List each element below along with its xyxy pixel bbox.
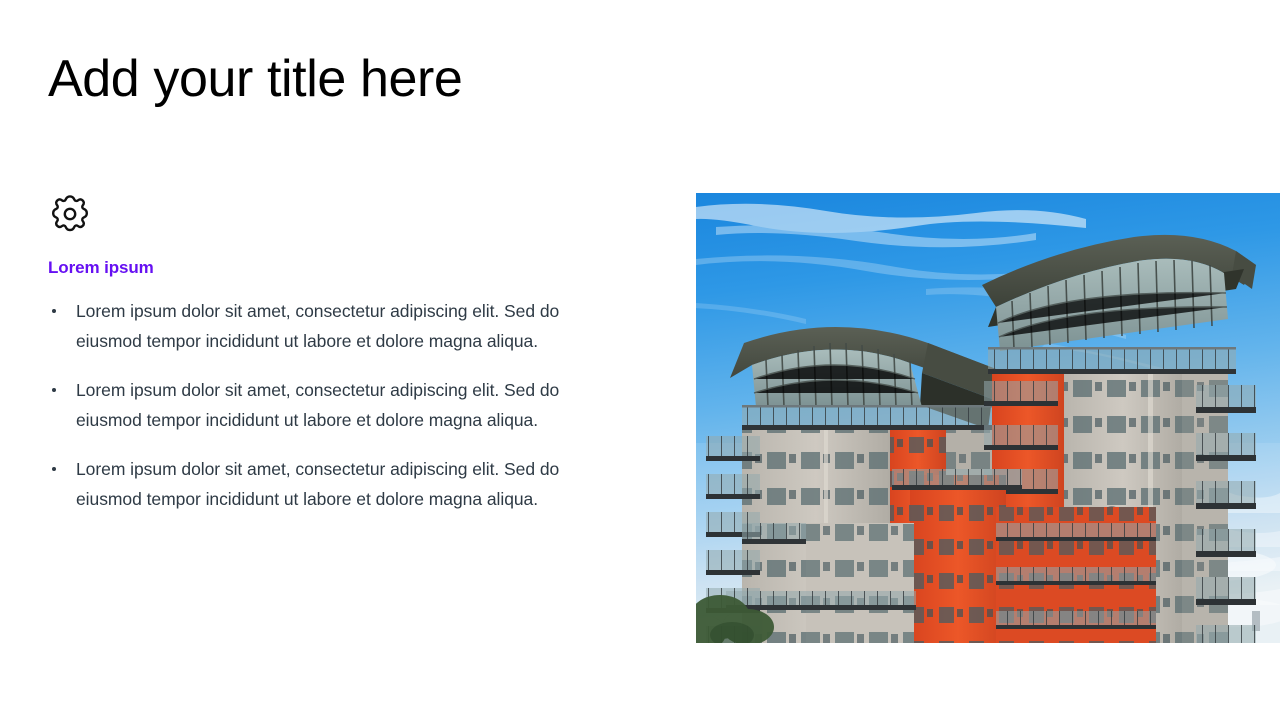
list-item: Lorem ipsum dolor sit amet, consectetur … bbox=[48, 297, 608, 356]
content-column: Lorem ipsum Lorem ipsum dolor sit amet, … bbox=[48, 192, 608, 514]
bullet-list: Lorem ipsum dolor sit amet, consectetur … bbox=[48, 297, 608, 514]
gear-icon bbox=[48, 192, 608, 236]
bullet-dot-icon bbox=[52, 309, 56, 313]
list-item-text: Lorem ipsum dolor sit amet, consectetur … bbox=[76, 459, 559, 509]
bullet-dot-icon bbox=[52, 388, 56, 392]
list-item-text: Lorem ipsum dolor sit amet, consectetur … bbox=[76, 380, 559, 430]
slide-canvas: Add your title here Lorem ipsum Lorem ip… bbox=[0, 0, 1280, 720]
feature-heading: Lorem ipsum bbox=[48, 258, 608, 278]
list-item-text: Lorem ipsum dolor sit amet, consectetur … bbox=[76, 301, 559, 351]
list-item: Lorem ipsum dolor sit amet, consectetur … bbox=[48, 376, 608, 435]
bullet-dot-icon bbox=[52, 467, 56, 471]
page-title: Add your title here bbox=[48, 50, 462, 110]
list-item: Lorem ipsum dolor sit amet, consectetur … bbox=[48, 455, 608, 514]
apartment-buildings-photo bbox=[696, 193, 1280, 643]
